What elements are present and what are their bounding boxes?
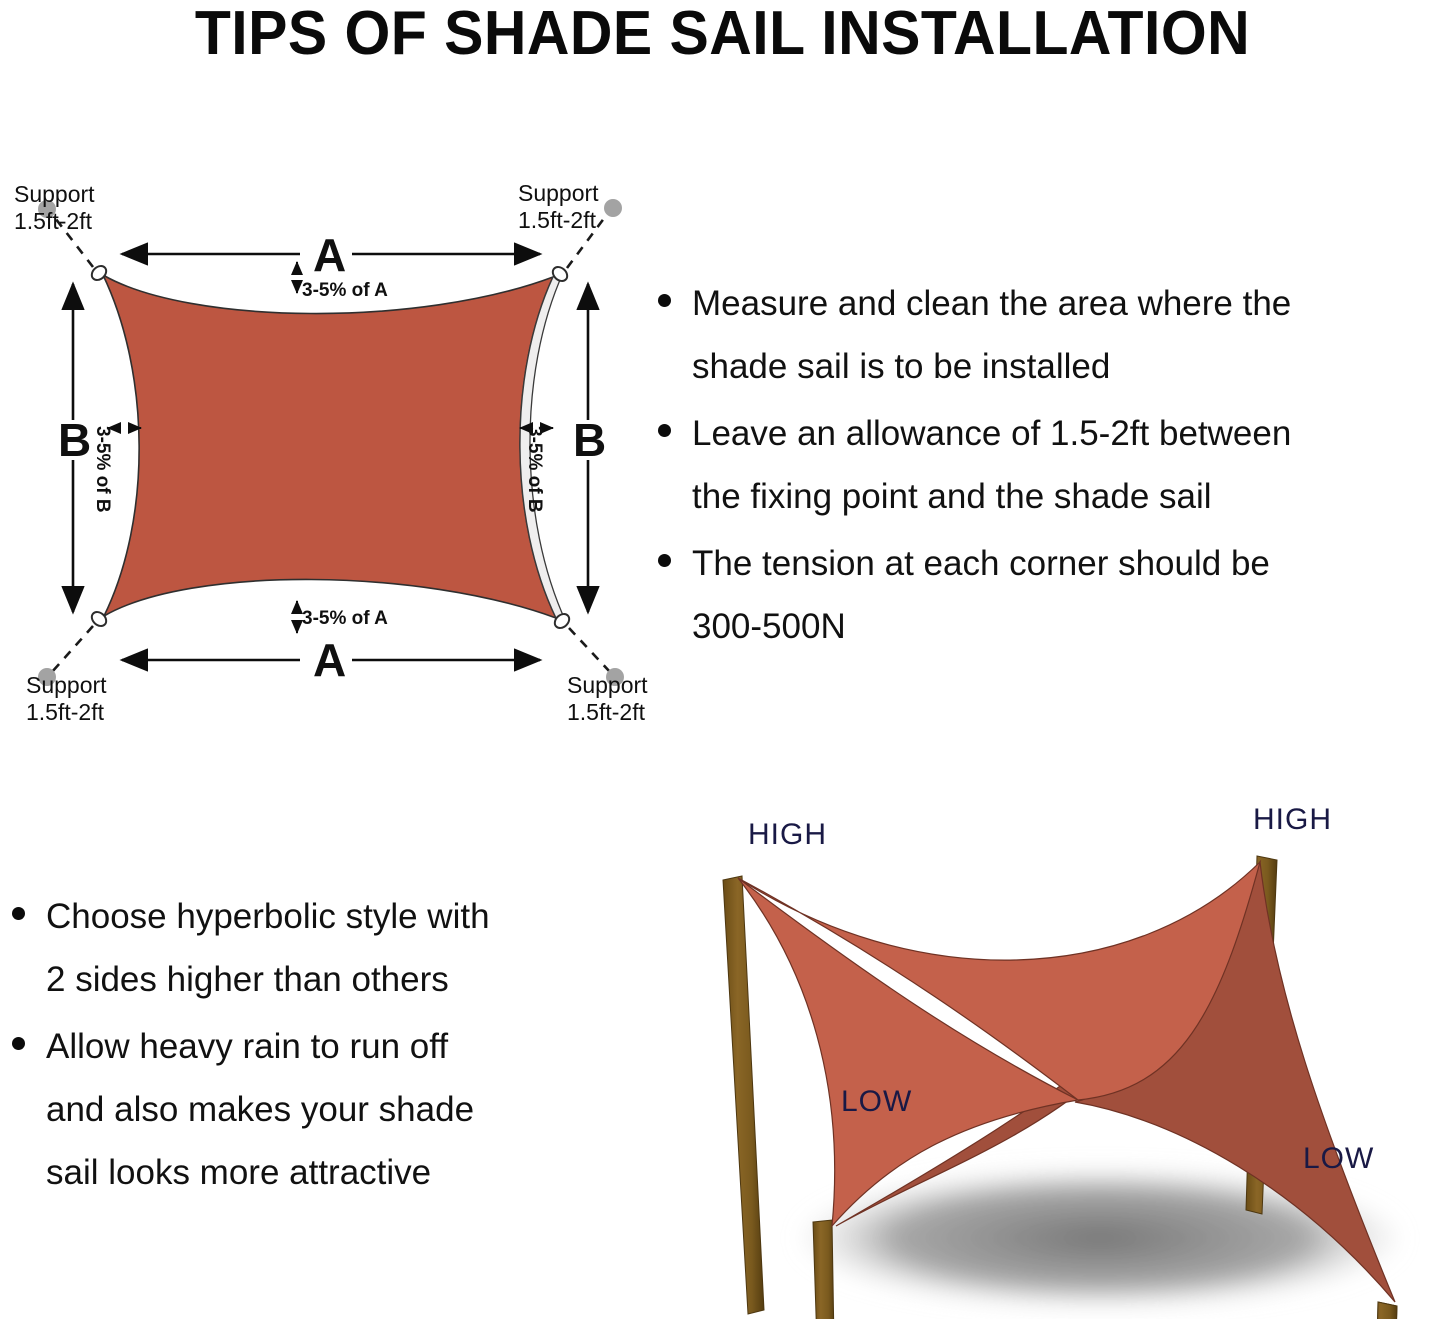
bullet-dot-icon: [658, 554, 671, 567]
post-low-left: [813, 1220, 835, 1319]
sail-shape: [103, 275, 556, 618]
tips-list-left: Choose hyperbolic style with 2 sides hig…: [2, 885, 632, 1208]
post-high-left: [723, 876, 764, 1314]
curvature-label-bottom: 3-5% of A: [302, 609, 388, 629]
support-label-top-right: Support 1.5ft-2ft: [518, 180, 599, 234]
tips-list-right: Measure and clean the area where the sha…: [648, 272, 1445, 662]
tip-line: 300-500N: [692, 595, 1445, 658]
post-low-right-overlay: [1372, 1302, 1397, 1319]
bullet-dot-icon: [658, 424, 671, 437]
curvature-label-right: 3-5% of B: [524, 426, 544, 513]
label-high-right: HIGH: [1253, 803, 1332, 837]
support-label-bottom-right: Support 1.5ft-2ft: [567, 672, 648, 726]
support-dot-top-right: [604, 199, 622, 217]
tip-line: Measure and clean the area where the: [692, 272, 1445, 335]
dimension-label-a-top: A: [313, 232, 346, 278]
list-item: Allow heavy rain to run off and also mak…: [2, 1015, 632, 1204]
dimension-label-b-right: B: [573, 417, 606, 463]
label-low-right: LOW: [1303, 1142, 1374, 1176]
tip-line: shade sail is to be installed: [692, 335, 1445, 398]
bullet-dot-icon: [658, 294, 671, 307]
list-item: Choose hyperbolic style with 2 sides hig…: [2, 885, 632, 1011]
tip-line: Choose hyperbolic style with: [46, 885, 632, 948]
hyperbolic-sail-diagram: [660, 790, 1445, 1319]
dimension-label-b-left: B: [58, 417, 91, 463]
tip-line: Leave an allowance of 1.5-2ft between: [692, 402, 1445, 465]
tension-line-bottom-right: [569, 628, 610, 672]
curvature-label-top: 3-5% of A: [302, 281, 388, 301]
list-item: Leave an allowance of 1.5-2ft between th…: [648, 402, 1445, 528]
dimension-label-a-bottom: A: [313, 637, 346, 683]
tension-line-bottom-left: [52, 626, 93, 672]
curvature-label-left: 3-5% of B: [92, 426, 112, 513]
label-low-left: LOW: [841, 1085, 912, 1119]
tip-line: 2 sides higher than others: [46, 948, 632, 1011]
tip-line: and also makes your shade: [46, 1078, 632, 1141]
list-item: The tension at each corner should be 300…: [648, 532, 1445, 658]
tip-line: the fixing point and the shade sail: [692, 465, 1445, 528]
infographic-page: TIPS OF SHADE SAIL INSTALLATION: [0, 0, 1445, 1319]
label-high-left: HIGH: [748, 818, 827, 852]
tip-line: sail looks more attractive: [46, 1141, 632, 1204]
tip-line: Allow heavy rain to run off: [46, 1015, 632, 1078]
hyperbolic-sail-svg: [660, 790, 1445, 1319]
tip-line: The tension at each corner should be: [692, 532, 1445, 595]
page-title: TIPS OF SHADE SAIL INSTALLATION: [36, 2, 1409, 66]
list-item: Measure and clean the area where the sha…: [648, 272, 1445, 398]
support-label-top-left: Support 1.5ft-2ft: [14, 181, 95, 235]
bullet-dot-icon: [12, 907, 25, 920]
bullet-dot-icon: [12, 1037, 25, 1050]
support-label-bottom-left: Support 1.5ft-2ft: [26, 672, 107, 726]
